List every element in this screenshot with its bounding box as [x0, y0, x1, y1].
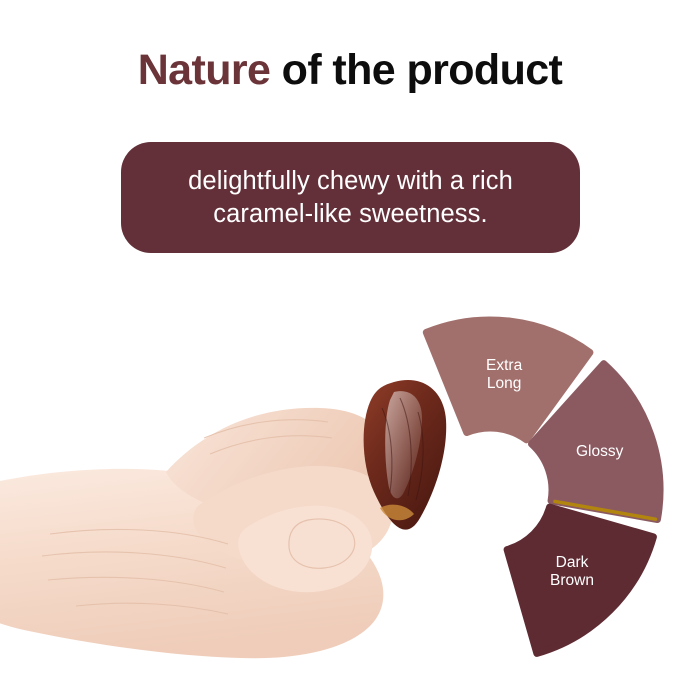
page-title-accent: Nature	[138, 46, 271, 94]
description-callout: delightfully chewy with a rich caramel-l…	[121, 142, 580, 253]
description-callout-text: delightfully chewy with a rich caramel-l…	[188, 165, 513, 231]
page-title: Nature of the product	[0, 44, 700, 96]
donut-slices	[426, 320, 660, 653]
attributes-donut-chart: ExtraLongGlossyDarkBrown	[312, 312, 700, 700]
donut-slice-label: ExtraLong	[486, 357, 523, 392]
description-line-1: delightfully chewy with a rich	[188, 167, 513, 195]
description-line-2: caramel-like sweetness.	[213, 200, 487, 228]
poster-canvas: Nature of the product delightfully chewy…	[0, 0, 700, 700]
donut-slice-label: DarkBrown	[550, 554, 594, 589]
page-title-plain: of the product	[270, 46, 562, 94]
donut-slice-label: Glossy	[576, 443, 624, 460]
